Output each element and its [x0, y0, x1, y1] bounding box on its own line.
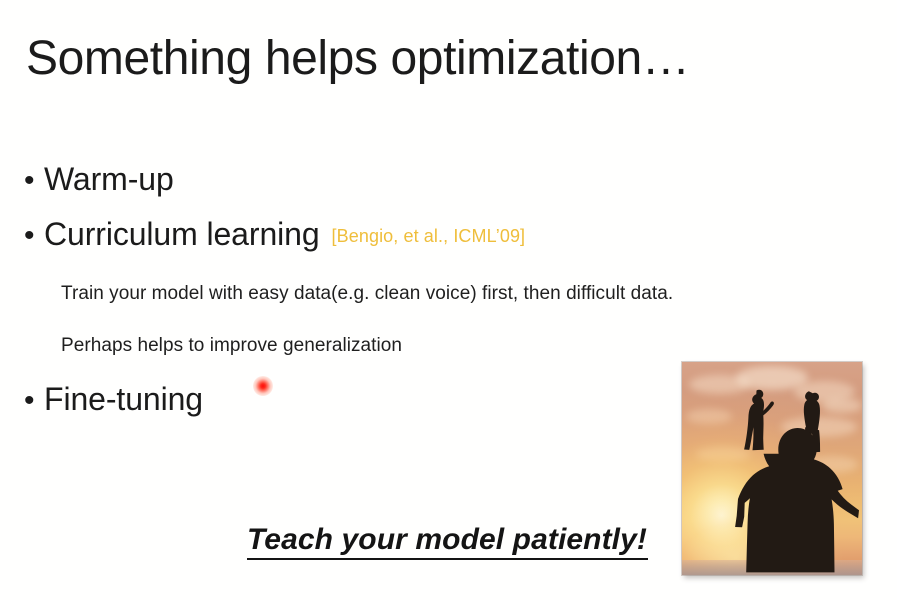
bullet-label-curriculum-learning: Curriculum learning: [44, 218, 320, 250]
citation-reference-bengio: [Bengio, et al., ICML’09]: [332, 226, 526, 247]
laser-pointer-icon: [253, 376, 273, 396]
bullet-point-icon: •: [24, 386, 44, 416]
presentation-slide: Something helps optimization… • Warm-up …: [0, 0, 897, 600]
bullet-label-fine-tuning: Fine-tuning: [44, 383, 203, 415]
bullet-point-icon: •: [24, 221, 44, 251]
emphasis-underline-rule: [247, 558, 648, 560]
bullet-item-warm-up: • Warm-up: [24, 163, 174, 196]
subline-train-with-easy-data: Train your model with easy data(e.g. cle…: [61, 283, 673, 305]
sunset-silhouette-photo: [682, 362, 862, 575]
photo-silhouette-figures: [682, 362, 862, 575]
page-title: Something helps optimization…: [26, 31, 689, 86]
emphasis-text-teach-patiently: Teach your model patiently!: [247, 523, 647, 557]
bullet-point-icon: •: [24, 166, 44, 196]
bullet-item-curriculum-learning: • Curriculum learning [Bengio, et al., I…: [24, 218, 525, 251]
subline-improve-generalization: Perhaps helps to improve generalization: [61, 335, 402, 357]
bullet-item-fine-tuning: • Fine-tuning: [24, 383, 203, 416]
bullet-label-warm-up: Warm-up: [44, 163, 174, 195]
